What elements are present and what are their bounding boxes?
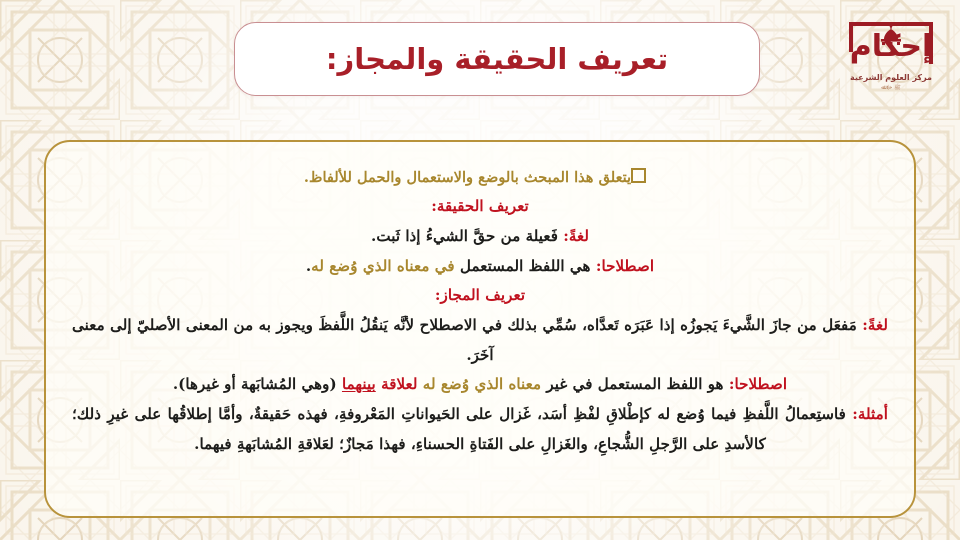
- square-bullet-icon: [631, 168, 646, 183]
- logo-mark: إحكام: [845, 18, 937, 70]
- haqiqa-istilahan: اصطلاحا: هي اللفظ المستعمل في معناه الذي…: [72, 252, 888, 282]
- content-panel: يتعلق هذا المبحث بالوضع والاستعمال والحم…: [44, 140, 916, 518]
- majaz-amthila: أمثلة: فاستِعمالُ اللَّفظِ فيما وُضع له …: [72, 400, 888, 459]
- majaz-lughatan: لغةً: مَفعَل من جازَ الشَّيءَ يَجوزُه إذ…: [72, 311, 888, 370]
- bullet-text: يتعلق هذا المبحث بالوضع والاستعمال والحم…: [304, 169, 631, 186]
- majaz-istilahan: اصطلاحا: هو اللفظ المستعمل في غير معناه …: [72, 370, 888, 400]
- haqiqa-lughatan: لغةً: فَعيلة من حقَّ الشيءُ إذا ثَبت.: [72, 222, 888, 252]
- logo-subtitle: مركز العلوم الشرعية: [850, 73, 932, 82]
- slide-root: تعريف الحقيقة والمجاز: إحكام مركز العلوم…: [0, 0, 960, 540]
- content-body: يتعلق هذا المبحث بالوضع والاستعمال والحم…: [72, 164, 888, 459]
- mosque-dome-icon: [877, 25, 905, 45]
- brand-logo: إحكام مركز العلوم الشرعية ﷺ ﷻ ﷲ: [838, 18, 944, 96]
- heading-haqiqa: تعريف الحقيقة:: [72, 192, 888, 222]
- heading-majaz: تعريف المجاز:: [72, 281, 888, 311]
- slide-title-card: تعريف الحقيقة والمجاز:: [234, 22, 760, 96]
- logo-subtitle-small: ﷺ ﷻ ﷲ: [881, 84, 901, 92]
- bullet-line: يتعلق هذا المبحث بالوضع والاستعمال والحم…: [72, 164, 888, 192]
- page-title: تعريف الحقيقة والمجاز:: [326, 45, 668, 74]
